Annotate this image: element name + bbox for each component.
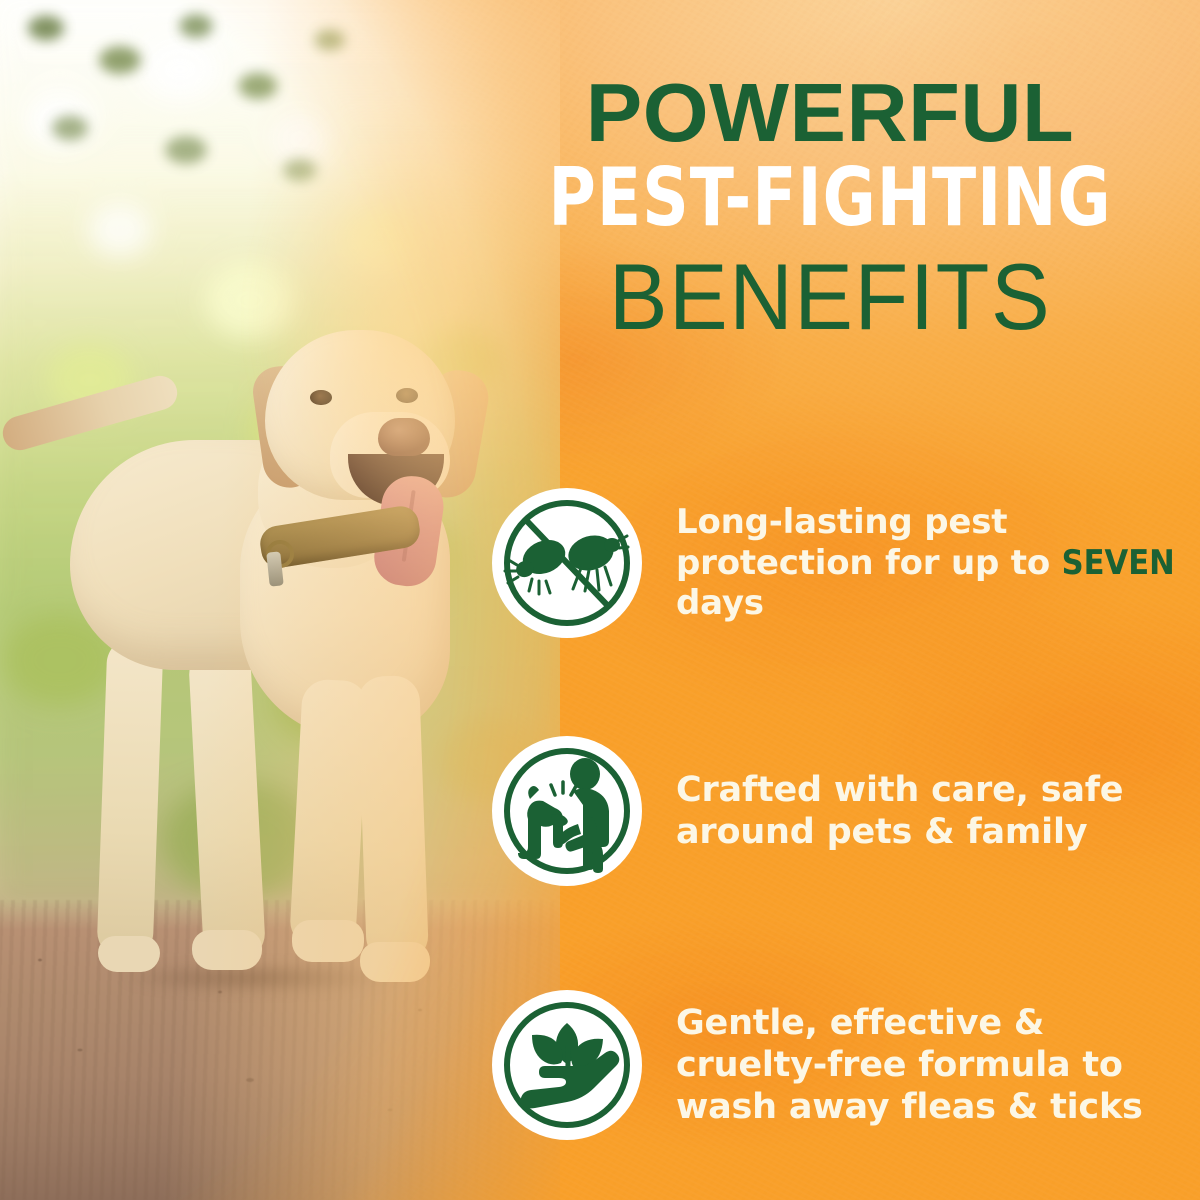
hand-holding-plant-icon <box>492 990 642 1140</box>
promo-poster: POWERFUL PEST-FIGHTING BENEFITS <box>0 0 1200 1200</box>
benefit-text-after: days <box>676 583 764 623</box>
headline-pest-fighting: PEST-FIGHTING <box>500 155 1160 242</box>
headline-block: POWERFUL PEST-FIGHTING BENEFITS <box>500 72 1160 341</box>
dog-photo <box>0 0 560 1200</box>
benefit-text-highlight: SEVEN <box>1062 543 1175 583</box>
benefit-text: Long-lasting pest protection for up to S… <box>676 502 1192 624</box>
headline-benefits: BENEFITS <box>500 250 1160 343</box>
person-high-five-dog-icon <box>492 736 642 886</box>
headline-powerful: POWERFUL <box>493 72 1166 153</box>
benefit-text-before: Long-lasting pest protection for up to <box>676 502 1062 583</box>
benefit-text: Gentle, effective & cruelty-free formula… <box>676 1002 1192 1128</box>
no-pests-icon <box>492 488 642 638</box>
benefit-text-before: Crafted with care, safe around pets & fa… <box>676 770 1123 852</box>
benefit-text-before: Gentle, effective & cruelty-free formula… <box>676 1003 1143 1127</box>
benefit-text: Crafted with care, safe around pets & fa… <box>676 769 1192 853</box>
benefit-item: Crafted with care, safe around pets & fa… <box>492 736 1192 886</box>
benefit-item: Gentle, effective & cruelty-free formula… <box>492 990 1192 1140</box>
benefits-list: Long-lasting pest protection for up to S… <box>492 488 1192 1140</box>
benefit-item: Long-lasting pest protection for up to S… <box>492 488 1192 638</box>
photo-warm-blend-edge <box>0 0 560 1200</box>
